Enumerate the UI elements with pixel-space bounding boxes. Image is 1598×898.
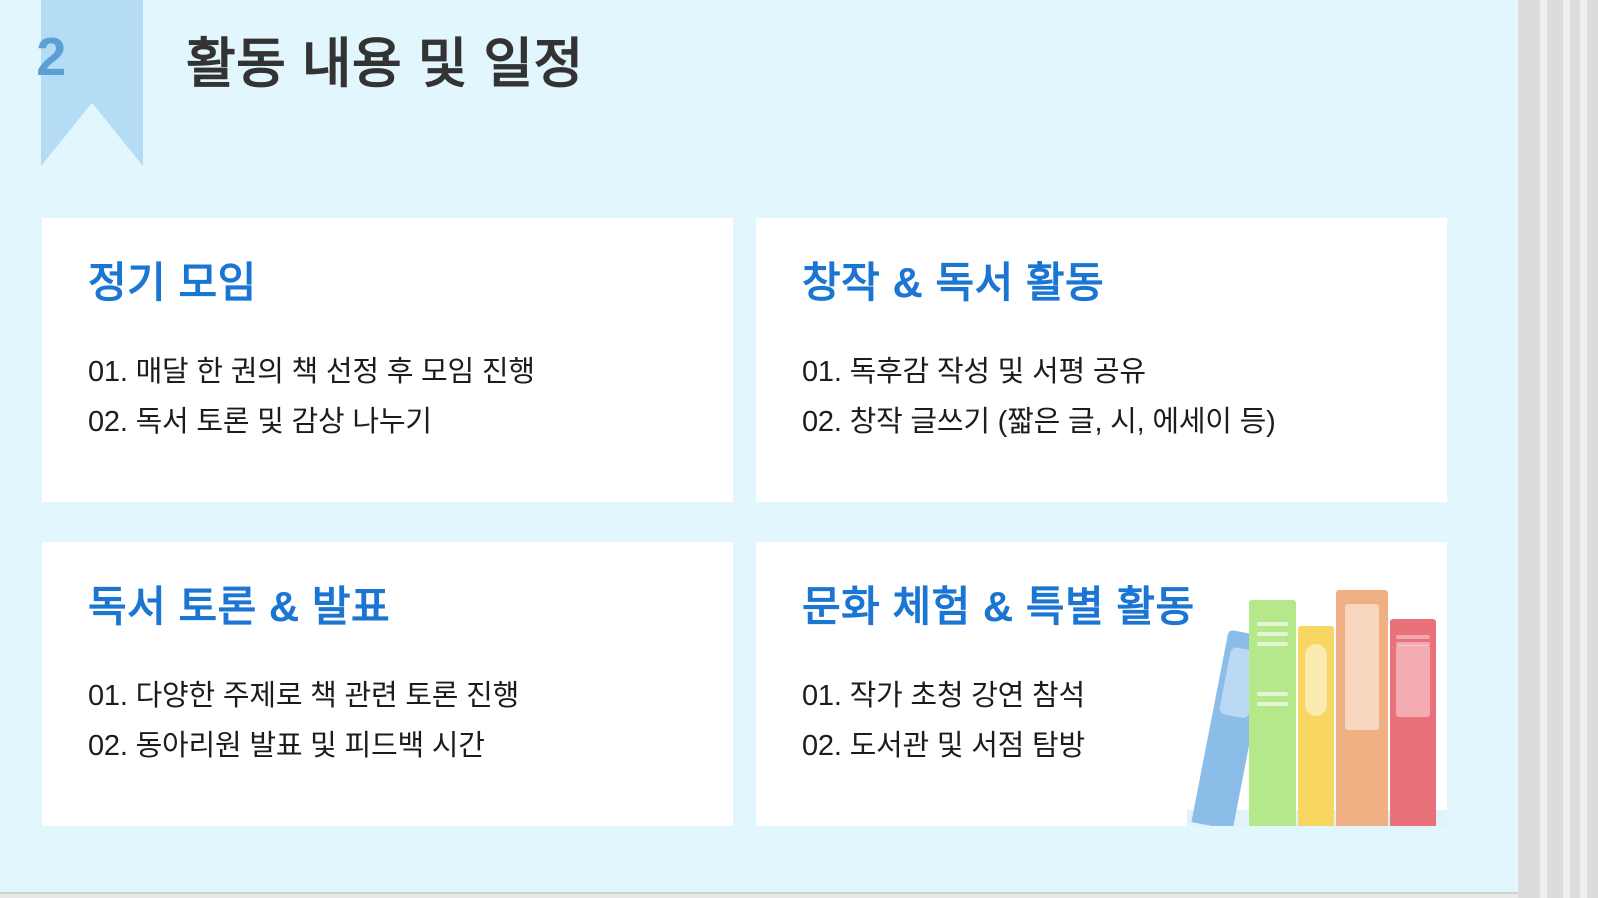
gutter-stripe: [1580, 0, 1587, 898]
book-line: [1396, 642, 1430, 646]
book-line: [1257, 632, 1288, 636]
list-item: 02. 도서관 및 서점 탐방: [802, 722, 1085, 772]
book-label: [1305, 644, 1327, 716]
list-item: 02. 창작 글쓰기 (짧은 글, 시, 에세이 등): [802, 398, 1276, 448]
list-item: 02. 동아리원 발표 및 피드백 시간: [88, 722, 519, 772]
card-item-list: 01. 독후감 작성 및 서평 공유 02. 창작 글쓰기 (짧은 글, 시, …: [802, 348, 1276, 448]
card-title: 문화 체험 & 특별 활동: [802, 584, 1195, 630]
activity-card[interactable]: 문화 체험 & 특별 활동 01. 작가 초청 강연 참석 02. 도서관 및 …: [756, 542, 1447, 826]
book-label: [1219, 646, 1261, 718]
activity-card[interactable]: 정기 모임 01. 매달 한 권의 책 선정 후 모임 진행 02. 독서 토론…: [42, 218, 733, 502]
slide-header: 2 활동 내용 및 일정: [0, 0, 1518, 196]
card-item-list: 01. 다양한 주제로 책 관련 토론 진행 02. 동아리원 발표 및 피드백…: [88, 672, 519, 772]
red-book-icon: [1390, 619, 1436, 826]
activity-card[interactable]: 창작 & 독서 활동 01. 독후감 작성 및 서평 공유 02. 창작 글쓰기…: [756, 218, 1447, 502]
book-line: [1257, 622, 1288, 626]
book-line: [1257, 702, 1288, 706]
card-title: 정기 모임: [88, 260, 257, 306]
book-line: [1257, 642, 1288, 646]
activity-card[interactable]: 독서 토론 & 발표 01. 다양한 주제로 책 관련 토론 진행 02. 동아…: [42, 542, 733, 826]
page-title: 활동 내용 및 일정: [186, 33, 584, 95]
card-item-list: 01. 작가 초청 강연 참석 02. 도서관 및 서점 탐방: [802, 672, 1085, 772]
list-item: 01. 다양한 주제로 책 관련 토론 진행: [88, 672, 519, 722]
gutter-stripe: [1563, 0, 1570, 898]
slide-root: 2 활동 내용 및 일정 정기 모임 01. 매달 한 권의 책 선정 후 모임…: [0, 0, 1598, 898]
gutter-stripe: [1540, 0, 1547, 898]
card-title: 창작 & 독서 활동: [802, 260, 1104, 306]
list-item: 01. 매달 한 권의 책 선정 후 모임 진행: [88, 348, 535, 398]
book-label: [1396, 645, 1430, 717]
card-title: 독서 토론 & 발표: [88, 584, 390, 630]
list-item: 01. 작가 초청 강연 참석: [802, 672, 1085, 722]
yellow-book-icon: [1298, 626, 1334, 826]
green-book-icon: [1249, 600, 1296, 826]
book-label: [1345, 604, 1379, 730]
card-grid: 정기 모임 01. 매달 한 권의 책 선정 후 모임 진행 02. 독서 토론…: [42, 218, 1447, 816]
section-number: 2: [0, 30, 102, 84]
page-gutter: [1518, 0, 1598, 898]
books-illustration-icon: [1187, 581, 1447, 826]
list-item: 02. 독서 토론 및 감상 나누기: [88, 398, 535, 448]
orange-book-icon: [1336, 590, 1388, 826]
blue-book-icon: [1191, 630, 1270, 826]
book-line: [1396, 635, 1430, 639]
slide-surface: 2 활동 내용 및 일정 정기 모임 01. 매달 한 권의 책 선정 후 모임…: [0, 0, 1518, 894]
card-item-list: 01. 매달 한 권의 책 선정 후 모임 진행 02. 독서 토론 및 감상 …: [88, 348, 535, 448]
shelf-shadow: [1187, 810, 1447, 826]
list-item: 01. 독후감 작성 및 서평 공유: [802, 348, 1276, 398]
book-line: [1257, 692, 1288, 696]
